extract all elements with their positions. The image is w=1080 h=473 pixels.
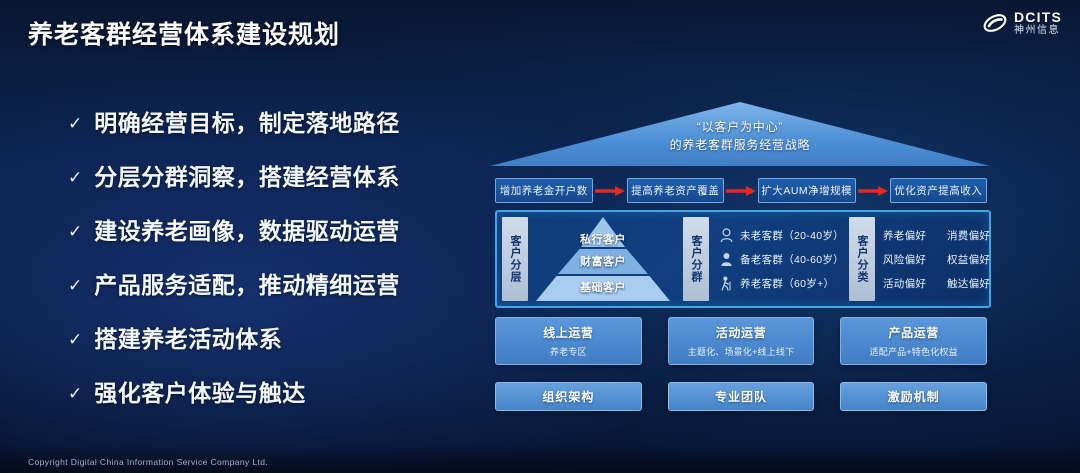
preference-row: 活动偏好 触达偏好 — [883, 276, 1013, 291]
goal-box-4[interactable]: 优化资产提高收入 — [890, 178, 988, 203]
pyramid-shape-icon: 私行客户 财富客户 基础客户 — [536, 217, 670, 301]
preference-row: 养老偏好 消费偏好 — [883, 228, 1013, 243]
preference-grid: 养老偏好 消费偏好 风险偏好 权益偏好 活动偏好 触达偏好 — [875, 212, 1013, 306]
bullet-text: 强化客户体验与触达 — [94, 374, 306, 408]
foundation-row: 组织架构 专业团队 激励机制 — [495, 382, 987, 411]
segment-row: 备老客群（40-60岁） — [719, 251, 844, 267]
check-icon: ✓ — [68, 331, 82, 348]
check-icon: ✓ — [68, 385, 82, 402]
person-young-icon — [719, 227, 733, 243]
segment-text: 备老客群（40-60岁） — [740, 252, 844, 267]
customer-segments: 未老客群（20-40岁） 备老客群（40-60岁） 养老客群（60岁+） — [709, 212, 844, 306]
operation-card-activity[interactable]: 活动运营 主题化、场景化+线上线下 — [668, 317, 815, 365]
tier-label: 客户分层 — [502, 217, 528, 301]
list-item: ✓ 产品服务适配，推动精细运营 — [68, 266, 468, 300]
list-item: ✓ 建设养老画像，数据驱动运营 — [68, 212, 468, 246]
copyright-text: Copyright Digital China Information Serv… — [28, 457, 268, 467]
arrow-right-icon — [593, 185, 627, 197]
operation-title: 产品运营 — [888, 324, 938, 341]
list-item: ✓ 强化客户体验与触达 — [68, 374, 468, 408]
bullet-text: 搭建养老活动体系 — [94, 320, 282, 354]
customer-structure-panel: 客户分层 私行客户 财富客户 基础客户 客户分群 — [495, 210, 991, 308]
segment-row: 未老客群（20-40岁） — [719, 227, 844, 243]
bullet-list: ✓ 明确经营目标，制定落地路径 ✓ 分层分群洞察，搭建经营体系 ✓ 建设养老画像… — [68, 104, 468, 428]
segment-text: 未老客群（20-40岁） — [740, 228, 844, 243]
check-icon: ✓ — [68, 277, 82, 294]
person-middle-icon — [719, 251, 733, 267]
strategy-banner: “以客户为中心” 的养老客群服务经营战略 — [490, 92, 990, 170]
group-label: 客户分群 — [683, 217, 709, 301]
arrow-right-icon — [856, 185, 890, 197]
operation-subtitle: 适配产品+特色化权益 — [870, 345, 958, 358]
operation-subtitle: 养老专区 — [550, 345, 587, 358]
preference-cell: 活动偏好 — [883, 276, 935, 291]
bullet-text: 明确经营目标，制定落地路径 — [94, 104, 400, 138]
slide-canvas: 养老客群经营体系建设规划 DCITS 神州信息 ✓ 明确经营目标，制定落地路径 … — [0, 0, 1080, 473]
goal-box-3[interactable]: 扩大AUM净增规模 — [758, 178, 856, 203]
pyramid-tier-1: 私行客户 — [536, 231, 670, 247]
operation-title: 线上运营 — [543, 324, 593, 341]
foundation-card-team[interactable]: 专业团队 — [668, 382, 815, 411]
bullet-text: 分层分群洞察，搭建经营体系 — [94, 158, 400, 192]
pyramid-tier-2: 财富客户 — [536, 253, 670, 269]
preference-cell: 消费偏好 — [947, 228, 999, 243]
preference-cell: 权益偏好 — [947, 252, 999, 267]
dcits-swirl-icon — [982, 10, 1008, 36]
preference-row: 风险偏好 权益偏好 — [883, 252, 1013, 267]
list-item: ✓ 搭建养老活动体系 — [68, 320, 468, 354]
banner-line-2: 的养老客群服务经营战略 — [490, 136, 990, 154]
arrow-right-icon — [724, 185, 758, 197]
preference-cell: 风险偏好 — [883, 252, 935, 267]
person-elder-cane-icon — [719, 275, 733, 291]
foundation-card-org[interactable]: 组织架构 — [495, 382, 642, 411]
check-icon: ✓ — [68, 115, 82, 132]
check-icon: ✓ — [68, 223, 82, 240]
check-icon: ✓ — [68, 169, 82, 186]
page-title: 养老客群经营体系建设规划 — [28, 15, 340, 51]
brand-logo: DCITS 神州信息 — [982, 10, 1062, 36]
banner-text: “以客户为中心” 的养老客群服务经营战略 — [490, 118, 990, 154]
segment-text: 养老客群（60岁+） — [740, 276, 834, 291]
goal-box-2[interactable]: 提高养老资产覆盖 — [627, 178, 725, 203]
bullet-text: 产品服务适配，推动精细运营 — [94, 266, 400, 300]
logo-text-cn: 神州信息 — [1014, 26, 1062, 36]
list-item: ✓ 明确经营目标，制定落地路径 — [68, 104, 468, 138]
preference-cell: 养老偏好 — [883, 228, 935, 243]
goal-box-1[interactable]: 增加养老金开户数 — [495, 178, 593, 203]
list-item: ✓ 分层分群洞察，搭建经营体系 — [68, 158, 468, 192]
preference-cell: 触达偏好 — [947, 276, 999, 291]
banner-line-1: “以客户为中心” — [490, 118, 990, 136]
pyramid-tier-3: 基础客户 — [536, 279, 670, 295]
operation-subtitle: 主题化、场景化+线上线下 — [688, 345, 795, 358]
operation-card-online[interactable]: 线上运营 养老专区 — [495, 317, 642, 365]
operations-row: 线上运营 养老专区 活动运营 主题化、场景化+线上线下 产品运营 适配产品+特色… — [495, 317, 987, 365]
bullet-text: 建设养老画像，数据驱动运营 — [94, 212, 400, 246]
logo-text-en: DCITS — [1014, 10, 1062, 24]
customer-pyramid: 私行客户 财富客户 基础客户 — [528, 212, 678, 306]
class-label: 客户分类 — [849, 217, 875, 301]
strategy-diagram: “以客户为中心” 的养老客群服务经营战略 增加养老金开户数 提高养老资产覆盖 扩… — [490, 92, 990, 427]
foundation-card-incentive[interactable]: 激励机制 — [840, 382, 987, 411]
goal-chain: 增加养老金开户数 提高养老资产覆盖 扩大AUM净增规模 优化资产提高收入 — [495, 179, 987, 202]
operation-title: 活动运营 — [716, 324, 766, 341]
operation-card-product[interactable]: 产品运营 适配产品+特色化权益 — [840, 317, 987, 365]
segment-row: 养老客群（60岁+） — [719, 275, 844, 291]
